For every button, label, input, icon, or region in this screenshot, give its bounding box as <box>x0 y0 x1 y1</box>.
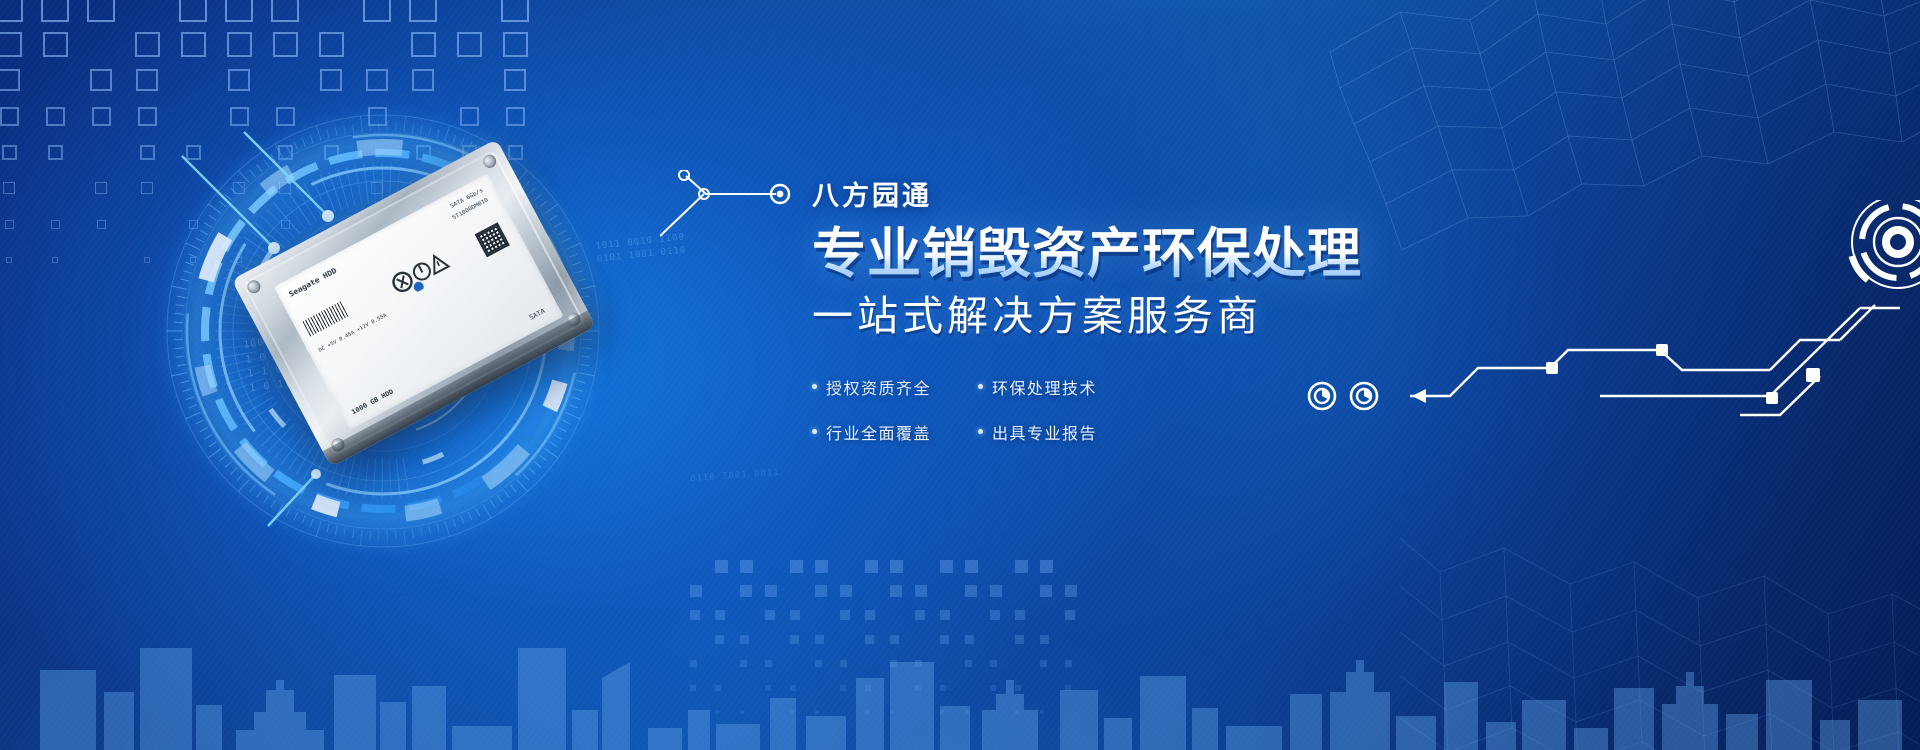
page-title: 专业销毁资产环保处理 <box>812 225 1552 283</box>
matrix-square <box>2 145 17 160</box>
pixel-cell <box>815 560 828 573</box>
matrix-square <box>141 182 153 194</box>
matrix-square <box>41 0 69 22</box>
matrix-square <box>416 145 431 160</box>
pixel-cell <box>940 560 953 573</box>
matrix-square <box>366 69 388 91</box>
matrix-square <box>411 32 436 57</box>
pixel-cell <box>865 710 869 714</box>
pixel-cell <box>715 610 725 620</box>
matrix-square <box>0 69 20 91</box>
matrix-square <box>52 257 58 263</box>
pixel-cell <box>990 685 996 691</box>
pixel-cell <box>790 635 799 644</box>
matrix-square <box>409 0 437 22</box>
matrix-square <box>3 182 15 194</box>
hdd-label-interface: SATA <box>528 307 546 321</box>
feature-label: 环保处理技术 <box>992 375 1097 399</box>
pixel-cell <box>790 610 800 620</box>
pixel-cell <box>990 660 997 667</box>
matrix-square <box>506 107 525 126</box>
matrix-square <box>271 0 299 22</box>
pixel-cell <box>1065 610 1075 620</box>
matrix-square <box>92 107 111 126</box>
list-item: 出具专业报告 <box>978 420 1552 444</box>
matrix-square <box>368 107 387 126</box>
pixel-cell <box>890 660 897 667</box>
matrix-square <box>0 0 23 22</box>
hard-disk-drive-image: Seagate HDD SATA 6Gb/s ST1000DM010 DC +5… <box>232 139 605 483</box>
wireframe-mesh-bottomright-icon <box>1400 510 1920 750</box>
matrix-square <box>319 32 344 57</box>
page-subtitle: 一站式解决方案服务商 <box>812 293 1552 341</box>
matrix-square <box>460 107 479 126</box>
pixel-cell <box>765 685 771 691</box>
feature-list: 授权资质齐全 环保处理技术 行业全面覆盖 出具专业报告 <box>812 375 1552 444</box>
bullet-dot-icon <box>812 384 817 389</box>
bullet-dot-icon <box>978 384 983 389</box>
list-item: 授权资质齐全 <box>812 375 960 399</box>
matrix-square <box>135 32 160 57</box>
matrix-square <box>412 69 434 91</box>
pixel-cell <box>840 685 846 691</box>
pixel-cell <box>1015 560 1028 573</box>
matrix-square <box>276 107 295 126</box>
pixel-cell <box>790 685 796 691</box>
pixel-cell <box>1015 610 1025 620</box>
pixel-cell <box>740 710 744 714</box>
pixel-cell <box>1065 660 1072 667</box>
pixel-cell <box>940 710 944 714</box>
promo-banner: 1001 0010 1001 100 1 0 11 : 1011 001 1 1… <box>0 0 1920 750</box>
pixel-cell <box>715 560 728 573</box>
bullet-dot-icon <box>812 429 817 434</box>
pixel-cell <box>1040 635 1049 644</box>
circuit-disc-icon <box>1852 200 1920 288</box>
pixel-cell <box>690 685 696 691</box>
matrix-square <box>279 182 291 194</box>
matrix-square <box>6 257 12 263</box>
matrix-square <box>97 220 106 229</box>
matrix-square <box>51 220 60 229</box>
pixel-grid-decoration <box>690 560 1090 750</box>
matrix-square <box>95 182 107 194</box>
matrix-square <box>236 257 242 263</box>
pixel-cell <box>890 635 899 644</box>
matrix-square <box>90 69 112 91</box>
matrix-square <box>179 0 207 22</box>
hdd-qr-code <box>475 222 510 257</box>
matrix-square <box>371 182 383 194</box>
matrix-square <box>273 32 298 57</box>
pixel-cell <box>765 660 772 667</box>
pixel-cell <box>990 610 1000 620</box>
bullet-dot-icon <box>978 429 983 434</box>
matrix-square <box>230 107 249 126</box>
pixel-cell <box>1065 685 1071 691</box>
pixel-cell <box>890 585 902 597</box>
pixel-cell <box>1015 685 1021 691</box>
hdd-certification-marks-icon <box>361 245 456 315</box>
pixel-cell <box>940 685 946 691</box>
pixel-cell <box>865 610 875 620</box>
matrix-square <box>227 32 252 57</box>
matrix-square <box>46 107 65 126</box>
pixel-cell <box>965 660 972 667</box>
banner-text-content: 八方园通 专业销毁资产环保处理 一站式解决方案服务商 授权资质齐全 环保处理技术… <box>812 182 1552 444</box>
matrix-square <box>508 145 523 160</box>
brand-name: 八方园通 <box>812 182 1552 212</box>
matrix-square <box>324 145 339 160</box>
pixel-cell <box>1015 635 1024 644</box>
matrix-square <box>233 182 245 194</box>
pixel-cell <box>965 560 978 573</box>
matrix-square <box>225 0 253 22</box>
matrix-square <box>186 145 201 160</box>
pixel-cell <box>890 560 903 573</box>
pixel-cell <box>740 660 747 667</box>
pixel-cell <box>915 585 927 597</box>
pixel-cell <box>965 710 969 714</box>
pixel-cell <box>940 610 950 620</box>
pixel-cell <box>790 710 794 714</box>
feature-label: 授权资质齐全 <box>826 375 931 399</box>
pixel-cell <box>740 585 752 597</box>
binary-code-block-2: 1011 0010 1100 0101 1001 0110 <box>595 231 687 266</box>
pixel-cell <box>940 635 949 644</box>
pixel-cell <box>815 585 827 597</box>
list-item: 环保处理技术 <box>978 375 1552 399</box>
pixel-cell <box>840 610 850 620</box>
pixel-cell <box>1040 710 1044 714</box>
pixel-cell <box>690 585 702 597</box>
matrix-square <box>278 145 293 160</box>
matrix-square <box>87 0 115 22</box>
pixel-cell <box>765 585 777 597</box>
pixel-cell <box>965 635 974 644</box>
matrix-square <box>181 32 206 57</box>
matrix-square <box>228 69 250 91</box>
list-item: 行业全面覆盖 <box>812 420 960 444</box>
pixel-cell <box>765 610 775 620</box>
matrix-square <box>504 69 526 91</box>
matrix-square <box>144 257 150 263</box>
pixel-cell <box>1015 710 1019 714</box>
matrix-square <box>503 32 528 57</box>
matrix-square <box>0 107 19 126</box>
pointer-callout-line <box>660 170 820 240</box>
feature-label: 行业全面覆盖 <box>826 420 931 444</box>
pixel-cell <box>815 660 822 667</box>
pixel-cell <box>1040 660 1047 667</box>
pixel-cell <box>740 635 749 644</box>
pixel-cell <box>840 660 847 667</box>
binary-code-block-3: 0110 1001 0011 <box>690 467 781 486</box>
matrix-square <box>320 69 342 91</box>
matrix-square <box>363 0 391 22</box>
feature-label: 出具专业报告 <box>992 420 1097 444</box>
matrix-square <box>138 107 157 126</box>
matrix-square <box>457 32 482 57</box>
pixel-cell <box>815 635 824 644</box>
pixel-cell <box>715 685 721 691</box>
pixel-cell <box>915 660 922 667</box>
hdd-barcode <box>302 301 349 337</box>
matrix-square <box>5 220 14 229</box>
matrix-square <box>140 145 155 160</box>
pixel-cell <box>990 585 1002 597</box>
pixel-cell <box>790 560 803 573</box>
pixel-cell <box>965 585 977 597</box>
matrix-square <box>190 257 196 263</box>
matrix-square <box>501 0 529 22</box>
pixel-cell <box>865 635 874 644</box>
pixel-cell <box>740 560 753 573</box>
pixel-cell <box>690 610 700 620</box>
matrix-square <box>48 145 63 160</box>
hdd-body: Seagate HDD SATA 6Gb/s ST1000DM010 DC +5… <box>232 139 596 467</box>
pixel-cell <box>865 560 878 573</box>
matrix-square <box>43 32 68 57</box>
pixel-cell <box>1040 585 1052 597</box>
pixel-cell <box>865 685 871 691</box>
city-skyline-silhouette <box>0 530 1920 750</box>
pixel-cell <box>715 635 724 644</box>
matrix-square <box>0 32 22 57</box>
pixel-cell <box>1065 585 1077 597</box>
matrix-square <box>189 220 198 229</box>
pixel-cell <box>915 685 921 691</box>
pixel-cell <box>915 610 925 620</box>
pixel-cell <box>840 585 852 597</box>
pixel-cell <box>1040 560 1053 573</box>
pixel-cell <box>890 710 894 714</box>
matrix-square <box>281 220 290 229</box>
matrix-square <box>136 69 158 91</box>
pixel-cell <box>815 710 819 714</box>
pixel-cell <box>690 660 697 667</box>
pixel-cell <box>715 710 719 714</box>
